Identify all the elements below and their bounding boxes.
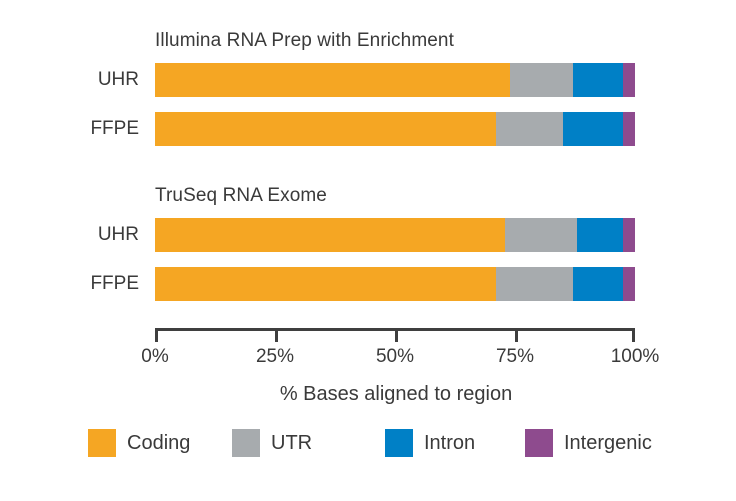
panel-title-illumina: Illumina RNA Prep with Enrichment xyxy=(155,30,454,52)
stacked-bar-illumina-ffpe xyxy=(155,112,635,146)
x-axis-tick xyxy=(632,331,635,342)
legend-label: Coding xyxy=(127,432,190,455)
legend-label: Intron xyxy=(424,432,475,455)
bar-segment-utr xyxy=(496,267,573,301)
bar-segment-intergenic xyxy=(623,112,635,146)
chart-panel-illumina: Illumina RNA Prep with Enrichment UHR FF… xyxy=(0,30,736,160)
stacked-bar-chart-figure: Illumina RNA Prep with Enrichment UHR FF… xyxy=(0,0,736,501)
stacked-bar-truseq-ffpe xyxy=(155,267,635,301)
bar-segment-coding xyxy=(155,63,510,97)
bar-segment-coding xyxy=(155,218,505,252)
bar-rows-truseq: UHR FFPE xyxy=(0,218,736,316)
bar-segment-intron xyxy=(563,112,623,146)
bar-segment-intergenic xyxy=(623,63,635,97)
x-axis-title: % Bases aligned to region xyxy=(0,383,736,406)
row-label-uhr: UHR xyxy=(0,218,139,252)
row-label-ffpe: FFPE xyxy=(0,112,139,146)
legend-swatch-intergenic xyxy=(525,429,553,457)
bar-segment-intergenic xyxy=(623,218,635,252)
x-axis-tick-label: 0% xyxy=(141,346,168,368)
x-axis-tick xyxy=(395,331,398,342)
x-axis-tick-label: 75% xyxy=(496,346,534,368)
chart-legend: CodingUTRIntronIntergenic xyxy=(0,428,736,468)
row-label-ffpe: FFPE xyxy=(0,267,139,301)
panel-title-truseq: TruSeq RNA Exome xyxy=(155,185,327,207)
legend-swatch-utr xyxy=(232,429,260,457)
bar-row: FFPE xyxy=(0,112,736,146)
bar-row: UHR xyxy=(0,218,736,252)
x-axis-tick xyxy=(275,331,278,342)
bar-segment-intron xyxy=(573,63,623,97)
row-label-uhr: UHR xyxy=(0,63,139,97)
bar-segment-intergenic xyxy=(623,267,635,301)
stacked-bar-illumina-uhr xyxy=(155,63,635,97)
stacked-bar-truseq-uhr xyxy=(155,218,635,252)
bar-row: FFPE xyxy=(0,267,736,301)
x-axis-tick-label: 50% xyxy=(376,346,414,368)
legend-label: UTR xyxy=(271,432,312,455)
legend-item-intron[interactable]: Intron xyxy=(385,428,475,458)
bar-segment-utr xyxy=(510,63,572,97)
bar-segment-utr xyxy=(505,218,577,252)
x-axis-tick xyxy=(515,331,518,342)
bar-rows-illumina: UHR FFPE xyxy=(0,63,736,161)
x-axis-tick xyxy=(155,331,158,342)
bar-segment-intron xyxy=(577,218,623,252)
bar-segment-intron xyxy=(573,267,623,301)
x-axis-tick-label: 100% xyxy=(611,346,660,368)
bar-segment-coding xyxy=(155,112,496,146)
bar-row: UHR xyxy=(0,63,736,97)
legend-label: Intergenic xyxy=(564,432,652,455)
chart-panel-truseq: TruSeq RNA Exome UHR FFPE xyxy=(0,185,736,315)
x-axis-tick-label: 25% xyxy=(256,346,294,368)
bar-segment-utr xyxy=(496,112,563,146)
x-axis-title-text: % Bases aligned to region xyxy=(280,383,512,406)
legend-item-coding[interactable]: Coding xyxy=(88,428,190,458)
x-axis: 0%25%50%75%100% xyxy=(0,328,736,388)
legend-item-utr[interactable]: UTR xyxy=(232,428,312,458)
legend-swatch-intron xyxy=(385,429,413,457)
legend-item-intergenic[interactable]: Intergenic xyxy=(525,428,652,458)
legend-swatch-coding xyxy=(88,429,116,457)
bar-segment-coding xyxy=(155,267,496,301)
